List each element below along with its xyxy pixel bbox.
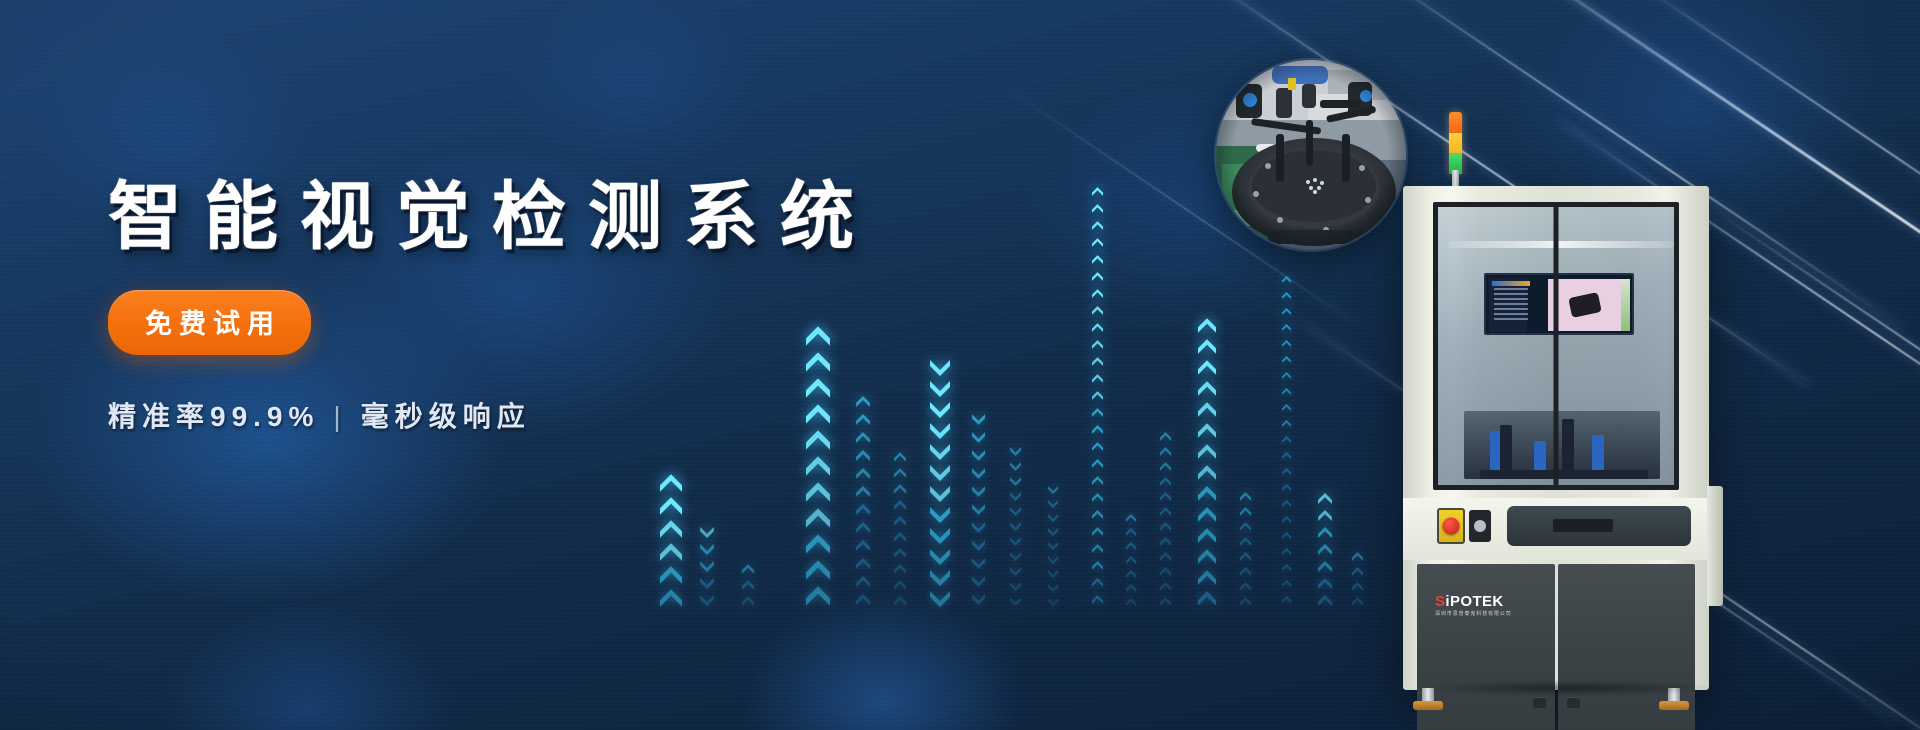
brand-logo: SiPOTEK 深圳市思普泰克科技有限公司 <box>1435 594 1512 617</box>
emergency-stop-button[interactable] <box>1437 508 1465 544</box>
machine-ground-shadow <box>1423 680 1715 696</box>
machine-cabinet: SiPOTEK 深圳市思普泰克科技有限公司 <box>1403 186 1709 690</box>
hero-stats: 精准率99.9%|毫秒级响应 <box>108 395 876 435</box>
brand-logo-wordmark: SiPOTEK <box>1435 594 1512 609</box>
rotary-inspection-photo-icon <box>1216 60 1406 250</box>
product-machine: SiPOTEK 深圳市思普泰克科技有限公司 <box>1395 112 1725 730</box>
machine-side-panel <box>1707 486 1723 606</box>
mode-selector-switch[interactable] <box>1469 510 1491 542</box>
machine-lower-doors: SiPOTEK 深圳市思普泰克科技有限公司 <box>1417 564 1695 730</box>
stat-separator: | <box>319 401 360 432</box>
monitor-inspection-view <box>1548 279 1626 331</box>
brand-logo-subtitle: 深圳市思普泰克科技有限公司 <box>1435 612 1512 617</box>
hero-banner: SiPOTEK 深圳市思普泰克科技有限公司 智能视觉检测系统 免费试用 精准率9… <box>0 0 1920 730</box>
machine-control-panel <box>1403 498 1709 560</box>
operator-keypad[interactable] <box>1507 506 1691 546</box>
interior-monitor <box>1484 273 1634 335</box>
inspected-part-silhouette <box>1568 292 1602 318</box>
hero-copy-block: 智能视觉检测系统 免费试用 精准率99.9%|毫秒级响应 <box>108 178 876 435</box>
page-title: 智能视觉检测系统 <box>108 178 876 256</box>
door-handle-right[interactable] <box>1567 697 1580 708</box>
monitor-status-strip <box>1621 279 1630 331</box>
monitor-sidebar <box>1489 278 1527 332</box>
brand-logo-initial: S <box>1435 593 1445 610</box>
stat-speed: 毫秒级响应 <box>361 401 531 432</box>
monitor-rows <box>1494 288 1528 323</box>
window-mullion <box>1554 207 1559 485</box>
monitor-titlebar <box>1492 281 1530 286</box>
interior-light-bar <box>1448 241 1674 248</box>
inset-photo-circle <box>1216 60 1406 250</box>
interior-mechanism <box>1464 411 1660 479</box>
stat-accuracy: 精准率99.9% <box>108 401 319 432</box>
door-handle-left[interactable] <box>1533 697 1546 708</box>
brand-logo-rest: iPOTEK <box>1445 593 1503 610</box>
machine-viewing-window <box>1433 202 1679 490</box>
tower-light-icon <box>1449 112 1462 174</box>
free-trial-button[interactable]: 免费试用 <box>108 290 311 355</box>
